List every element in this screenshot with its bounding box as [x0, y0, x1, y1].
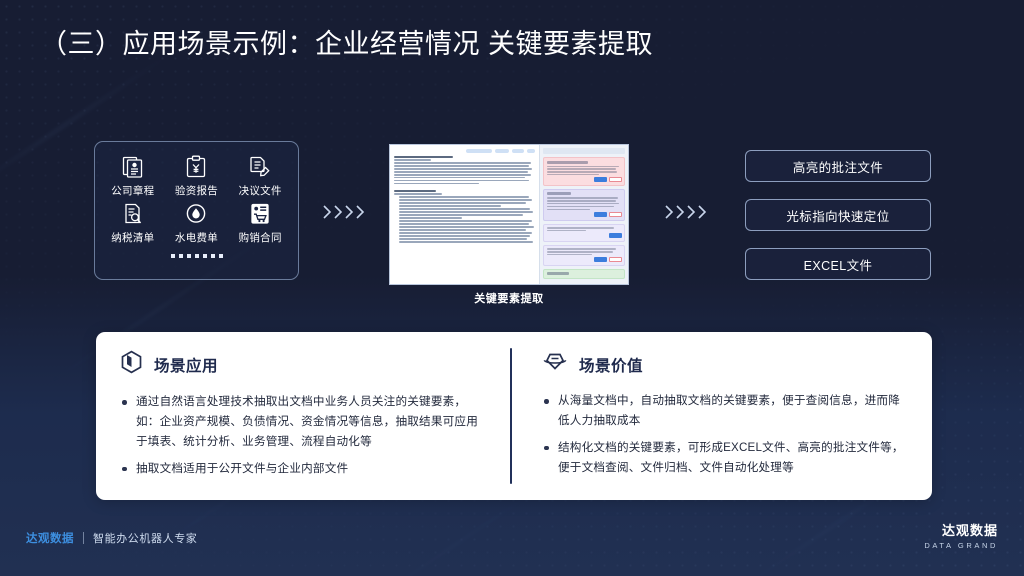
scenario-value-column: 场景价值 从海量文档中，自动抽取文档的关键要素，便于查阅信息，进而降低人力抽取成… [512, 332, 932, 500]
slide-root: （三）应用场景示例：企业经营情况 关键要素提取 公司章程 [0, 0, 1024, 576]
document-cart-icon [228, 200, 292, 228]
scenario-application-column: 场景应用 通过自然语言处理技术抽取出文档中业务人员关注的关键要素，如：企业资产规… [96, 332, 510, 500]
annotation-card[interactable] [543, 224, 625, 242]
output-item-excel-file[interactable]: EXCEL文件 [745, 248, 931, 280]
gem-diamond-icon [542, 350, 568, 379]
source-item-tax-list[interactable]: 纳税清单 [101, 200, 165, 245]
screenshot-document-pane [390, 145, 540, 284]
scenario-application-header: 场景应用 [120, 350, 488, 380]
source-document-box: 公司章程 验资报告 [94, 141, 299, 280]
footer-tagline: 智能办公机器人专家 [93, 530, 197, 546]
annotation-card[interactable] [543, 245, 625, 266]
annotation-pane-header [543, 148, 625, 154]
key-element-extraction-screenshot[interactable] [389, 144, 629, 285]
source-item-label: 购销合同 [228, 230, 292, 245]
annotation-card[interactable] [543, 189, 625, 221]
info-panel: 场景应用 通过自然语言处理技术抽取出文档中业务人员关注的关键要素，如：企业资产规… [96, 332, 932, 500]
source-item-label: 水电费单 [165, 230, 229, 245]
list-item: 抽取文档适用于公开文件与企业内部文件 [120, 459, 488, 479]
stacked-certificate-icon [101, 153, 165, 181]
source-item-label: 纳税清单 [101, 230, 165, 245]
scenario-value-title: 场景价值 [579, 354, 643, 376]
scenario-value-bullets: 从海量文档中，自动抽取文档的关键要素，便于查阅信息，进而降低人力抽取成本 结构化… [542, 391, 910, 478]
list-item: 通过自然语言处理技术抽取出文档中业务人员关注的关键要素，如：企业资产规模、负债情… [120, 392, 488, 452]
screenshot-document-text [394, 156, 535, 243]
footer-logo: 达观数据 DATA GRAND [924, 520, 998, 550]
source-item-purchase-contract[interactable]: 购销合同 [228, 200, 292, 245]
annotation-card[interactable] [543, 157, 625, 186]
output-item-highlight-annotation[interactable]: 高亮的批注文件 [745, 150, 931, 182]
screenshot-annotation-pane [540, 145, 628, 284]
chevrons-right-icon-right [664, 203, 710, 221]
scenario-application-title: 场景应用 [154, 354, 218, 376]
scenario-application-bullets: 通过自然语言处理技术抽取出文档中业务人员关注的关键要素，如：企业资产规模、负债情… [120, 392, 488, 479]
more-documents-dots [95, 254, 298, 258]
footer-separator [83, 532, 84, 544]
source-item-company-charter[interactable]: 公司章程 [101, 153, 165, 198]
screenshot-caption: 关键要素提取 [389, 290, 629, 306]
footer-brand: 达观数据 [26, 530, 74, 546]
output-item-cursor-locate[interactable]: 光标指向快速定位 [745, 199, 931, 231]
source-item-capital-verification[interactable]: 验资报告 [165, 153, 229, 198]
source-item-label: 公司章程 [101, 183, 165, 198]
source-item-label: 决议文件 [228, 183, 292, 198]
annotation-card[interactable] [543, 269, 625, 279]
list-item: 结构化文档的关键要素，可形成EXCEL文件、高亮的批注文件等，便于文档查阅、文件… [542, 438, 910, 478]
screenshot-toolbar [394, 148, 535, 154]
logo-chinese: 达观数据 [924, 520, 998, 539]
water-drop-icon [165, 200, 229, 228]
clipboard-yuan-icon [165, 153, 229, 181]
document-pen-icon [228, 153, 292, 181]
list-item: 从海量文档中，自动抽取文档的关键要素，便于查阅信息，进而降低人力抽取成本 [542, 391, 910, 431]
page-title: （三）应用场景示例：企业经营情况 关键要素提取 [40, 22, 653, 61]
source-item-utility-bill[interactable]: 水电费单 [165, 200, 229, 245]
cube-hexagon-icon [120, 350, 143, 380]
chevrons-right-icon-left [322, 203, 368, 221]
document-magnifier-icon [101, 200, 165, 228]
source-document-grid: 公司章程 验资报告 [95, 142, 298, 245]
output-list: 高亮的批注文件 光标指向快速定位 EXCEL文件 [745, 150, 931, 280]
logo-english: DATA GRAND [924, 541, 998, 550]
scenario-value-header: 场景价值 [542, 350, 910, 379]
footer-left: 达观数据 智能办公机器人专家 [26, 530, 197, 546]
source-item-label: 验资报告 [165, 183, 229, 198]
source-item-resolution-doc[interactable]: 决议文件 [228, 153, 292, 198]
